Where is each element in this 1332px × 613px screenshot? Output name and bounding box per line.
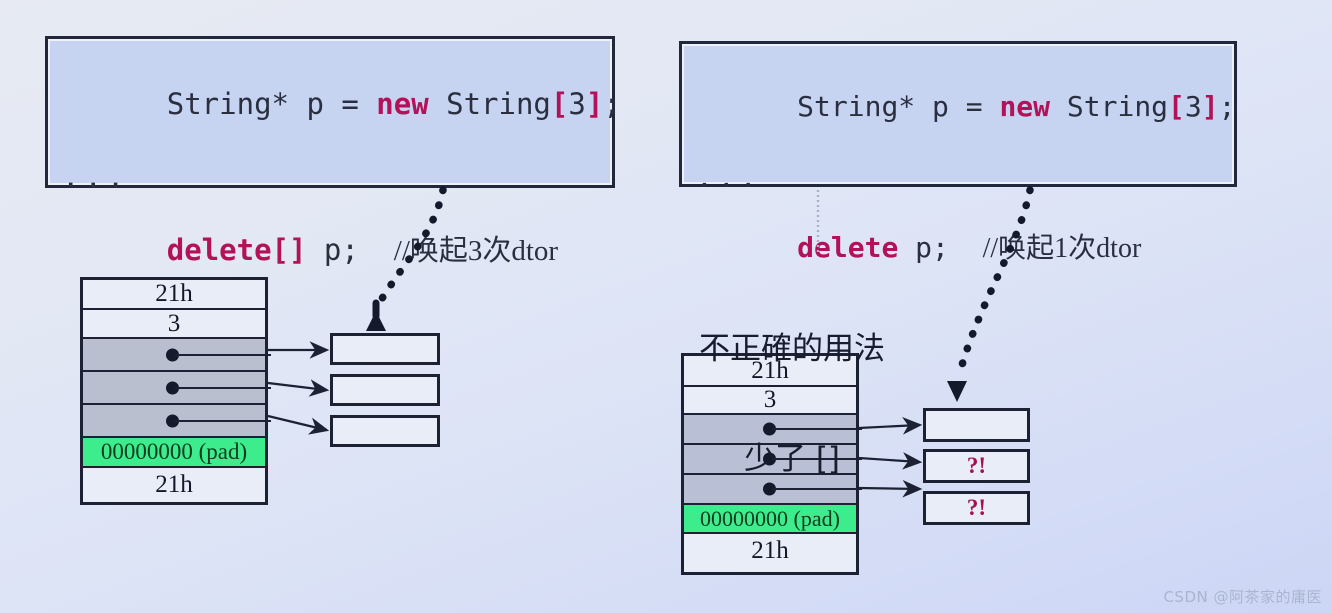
incorrect-usage-annotation: 不正確的用法 少了 [] (672, 258, 912, 551)
left-code-line3-comment: //唤起3次dtor (394, 235, 558, 267)
left-pointer-line-1 (175, 354, 271, 356)
left-code-line1-semicolon: ; (603, 87, 620, 121)
left-pointer-line-3 (175, 420, 271, 422)
left-mem-row-0-label: 21h (155, 280, 193, 308)
right-code-line1-seg-a: String* p = (797, 90, 999, 123)
right-code-box: String* p = new String[3]; ... delete p;… (679, 41, 1237, 187)
right-code-line1-keyword-new: new (999, 90, 1050, 123)
right-code-line-1: String* p = new String[3]; (696, 54, 1220, 160)
left-code-line-1: String* p = new String[3]; (62, 49, 598, 159)
right-string-box-2-label: ?! (967, 453, 986, 479)
right-string-object-box-1 (923, 408, 1030, 442)
left-memory-block: 21h 3 00000000 (pad) 21h (80, 277, 268, 505)
left-arrow-2 (268, 383, 326, 390)
left-code-line1-bracket-open: [ (551, 87, 568, 121)
right-string-object-box-2: ?! (923, 449, 1030, 483)
left-string-object-box-3 (330, 415, 440, 447)
right-code-line1-bracket-close: ] (1202, 90, 1219, 123)
annotation-line-2: 少了 [] (672, 441, 912, 478)
left-string-object-box-1 (330, 333, 440, 365)
left-code-line1-bracket-close: ] (586, 87, 603, 121)
right-string-box-3-label: ?! (967, 495, 986, 521)
right-string-object-box-3: ?! (923, 491, 1030, 525)
right-code-line1-bracket-open: [ (1168, 90, 1185, 123)
left-dotted-arrowhead (366, 311, 386, 331)
right-dotted-arrowhead (947, 381, 967, 402)
left-mem-row-pointer-3 (83, 405, 265, 438)
left-mem-row-array-count: 3 (83, 310, 265, 339)
annotation-line-1: 不正確的用法 (672, 331, 912, 368)
left-code-line-2-ellipsis: ... (62, 159, 598, 196)
left-mem-row-pointer-1 (83, 339, 265, 372)
left-pointer-line-2 (175, 387, 271, 389)
left-arrow-3 (268, 416, 326, 430)
left-mem-row-header-size-top: 21h (83, 280, 265, 310)
left-code-line3-keyword-delete-array: delete[] (167, 233, 307, 267)
left-mem-row-header-size-bottom: 21h (83, 468, 265, 502)
left-pointer-arrows (268, 350, 326, 430)
left-code-line1-keyword-new: new (376, 87, 428, 121)
left-mem-row-padding: 00000000 (pad) (83, 438, 265, 468)
left-code-box: String* p = new String[3]; ... delete[] … (45, 36, 615, 188)
csdn-watermark: CSDN @阿茶家的庸医 (1163, 586, 1322, 607)
left-mem-row-pointer-2 (83, 372, 265, 405)
left-mem-row-1-label: 3 (168, 310, 181, 338)
left-code-line1-array-size: 3 (568, 87, 585, 121)
slide-canvas: String* p = new String[3]; ... delete[] … (0, 0, 1332, 613)
left-mem-row-6-label: 21h (155, 471, 193, 499)
right-code-line1-semicolon: ; (1219, 90, 1236, 123)
left-mem-row-5-label: 00000000 (pad) (101, 439, 247, 465)
right-code-line1-array-size: 3 (1185, 90, 1202, 123)
left-string-object-box-2 (330, 374, 440, 406)
right-code-line-2-ellipsis: ... (696, 160, 1220, 195)
right-code-line1-seg-b: String (1050, 90, 1168, 123)
left-code-line1-seg-b: String (429, 87, 551, 121)
left-code-line1-seg-a: String* p = (167, 87, 377, 121)
left-code-line3-rest: p; (306, 233, 393, 267)
right-code-line3-comment: //唤起1次dtor (983, 233, 1142, 264)
